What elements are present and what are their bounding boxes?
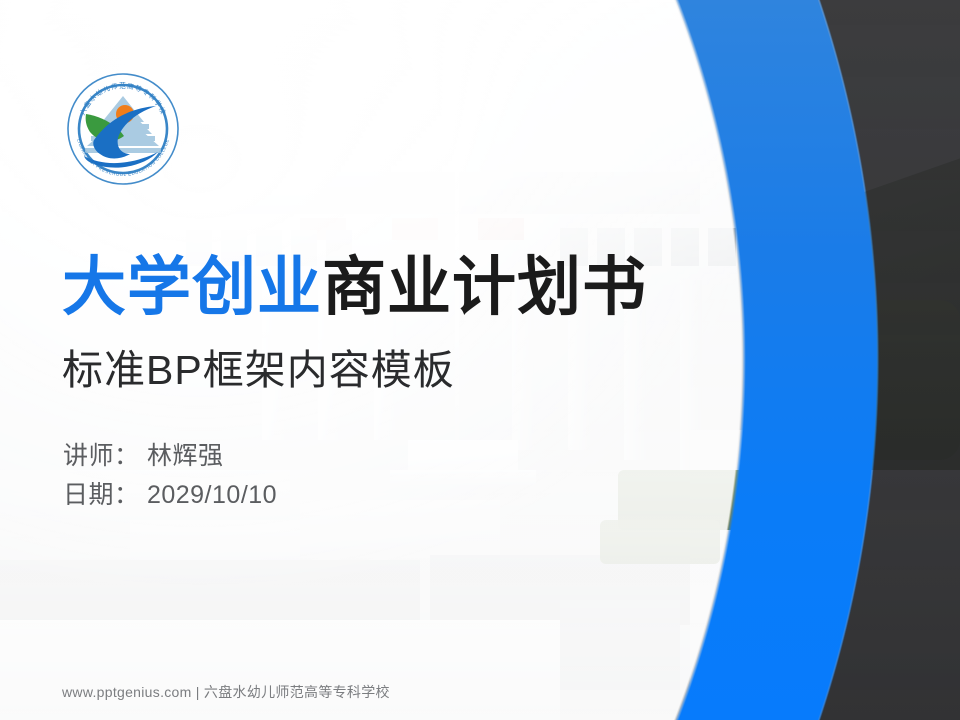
college-logo: 六盘水幼儿师范高等专科学校 LIUPANSHUI PRESCHOOL EDUCA… — [64, 70, 182, 188]
slide-meta: 讲师： 林辉强 日期： 2029/10/10 — [63, 437, 277, 515]
slide-title-dark: 商业计划书 — [322, 251, 647, 323]
title-slide: 六盘水幼儿师范高等专科学校 LIUPANSHUI PRESCHOOL EDUCA… — [0, 0, 960, 720]
presenter-line: 讲师： 林辉强 — [63, 437, 277, 476]
slide-footer: www.pptgenius.com | 六盘水幼儿师范高等专科学校 — [62, 682, 390, 702]
slide-title-highlight: 大学创业 — [62, 251, 322, 323]
slide-title: 大学创业商业计划书 — [62, 255, 647, 319]
date-line: 日期： 2029/10/10 — [63, 476, 277, 515]
slide-subtitle: 标准BP框架内容模板 — [62, 350, 455, 391]
